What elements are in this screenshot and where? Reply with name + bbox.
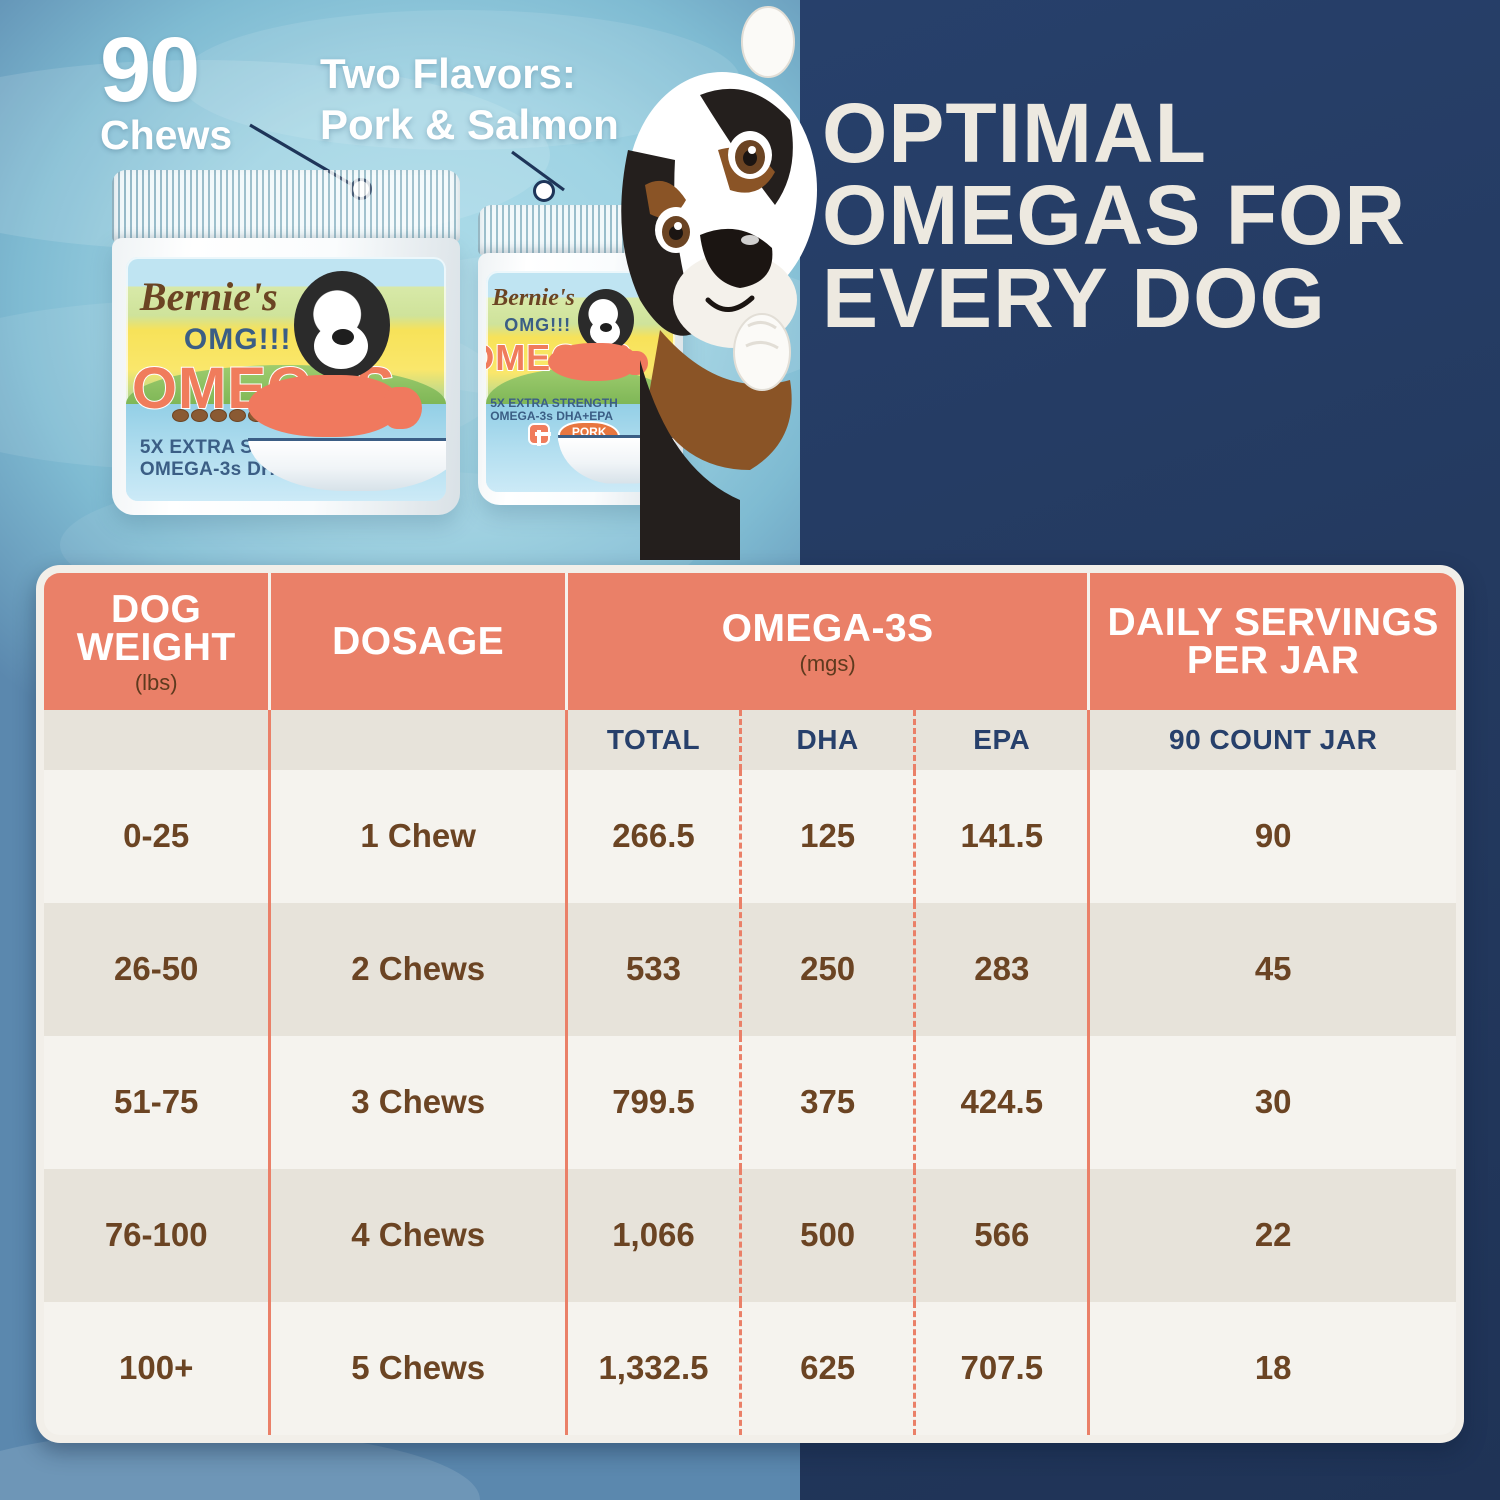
label-brand: Bernie's [140, 273, 278, 320]
chew-count-number: 90 [100, 28, 232, 113]
chew-piece [172, 409, 189, 422]
cell-weight: 51-75 [44, 1036, 270, 1169]
label-omg: OMG!!! [504, 315, 571, 336]
label-fish-illustration [248, 375, 398, 437]
cell-dha: 125 [741, 770, 915, 903]
dosage-table-body: 0-25 1 Chew 266.5 125 141.5 90 26-50 2 C… [44, 770, 1456, 1435]
header-omega3s-label: Omega-3s [722, 607, 934, 650]
table-header-row-primary: Dog Weight (lbs) Dosage Omega-3s (mgs) D… [44, 573, 1456, 710]
subheader-epa: EPA [915, 710, 1089, 770]
subheader-weight-blank [44, 710, 270, 770]
page-headline: Optimal Omegas for Every Dog [822, 92, 1482, 339]
cell-dosage: 1 Chew [270, 770, 567, 903]
cell-dosage: 4 Chews [270, 1169, 567, 1302]
cell-total: 1,066 [566, 1169, 740, 1302]
header-dosage-label: Dosage [332, 620, 504, 663]
label-omg: OMG!!! [184, 323, 292, 357]
product-jar-salmon: Bernie's OMG!!! OMEGAS 5X EXTRA STRENGTH… [112, 170, 460, 515]
chew-piece [229, 409, 246, 422]
headline-line-1: Optimal [822, 92, 1482, 174]
cell-total: 266.5 [566, 770, 740, 903]
cell-dha: 500 [741, 1169, 915, 1302]
headline-line-3: Every Dog [822, 257, 1482, 339]
jar-label: Bernie's OMG!!! OMEGAS 5X EXTRA STRENGTH… [126, 257, 446, 501]
header-dog-weight: Dog Weight (lbs) [44, 573, 270, 710]
header-dog-weight-label: Dog Weight [77, 588, 236, 669]
label-brand: Bernie's [492, 285, 575, 312]
cell-total: 799.5 [566, 1036, 740, 1169]
chew-count-label: Chews [100, 117, 232, 155]
dosage-table-head: Dog Weight (lbs) Dosage Omega-3s (mgs) D… [44, 573, 1456, 770]
table-row: 76-100 4 Chews 1,066 500 566 22 [44, 1169, 1456, 1302]
dosage-table: Dog Weight (lbs) Dosage Omega-3s (mgs) D… [44, 573, 1456, 1435]
table-row: 26-50 2 Chews 533 250 283 45 [44, 903, 1456, 1036]
cell-servings: 30 [1089, 1036, 1456, 1169]
cell-epa: 283 [915, 903, 1089, 1036]
cell-dosage: 3 Chews [270, 1036, 567, 1169]
header-omega3s-unit: (mgs) [572, 653, 1083, 675]
cell-epa: 141.5 [915, 770, 1089, 903]
label-subtext: 5X EXTRA STRENGTH OMEGA-3s DHA+EPA [490, 397, 618, 424]
cell-servings: 22 [1089, 1169, 1456, 1302]
subheader-dha: DHA [741, 710, 915, 770]
subheader-total: TOTAL [566, 710, 740, 770]
cell-dosage: 2 Chews [270, 903, 567, 1036]
chew-piece [210, 409, 227, 422]
cell-total: 1,332.5 [566, 1302, 740, 1435]
table-row: 100+ 5 Chews 1,332.5 625 707.5 18 [44, 1302, 1456, 1435]
cell-dha: 250 [741, 903, 915, 1036]
jar-body: Bernie's OMG!!! OMEGAS 5X EXTRA STRENGTH… [112, 238, 460, 515]
header-omega3s: Omega-3s (mgs) [566, 573, 1088, 710]
cell-weight: 76-100 [44, 1169, 270, 1302]
cell-servings: 18 [1089, 1302, 1456, 1435]
plus-badge-icon [528, 423, 550, 445]
chew-piece [191, 409, 208, 422]
cell-dha: 625 [741, 1302, 915, 1435]
cell-weight: 0-25 [44, 770, 270, 903]
headline-line-2: Omegas for [822, 174, 1482, 256]
leader-dot-back-jar [533, 180, 555, 202]
table-header-row-secondary: TOTAL DHA EPA 90 COUNT JAR [44, 710, 1456, 770]
cell-weight: 100+ [44, 1302, 270, 1435]
subheader-dosage-blank [270, 710, 567, 770]
cell-dosage: 5 Chews [270, 1302, 567, 1435]
header-dog-weight-unit: (lbs) [48, 672, 264, 694]
cell-servings: 45 [1089, 903, 1456, 1036]
label-fish-tail [384, 387, 422, 429]
cell-servings: 90 [1089, 770, 1456, 903]
jar-lid [112, 170, 460, 242]
peeking-dog-illustration [600, 0, 850, 560]
chew-count-callout: 90 Chews [100, 28, 232, 154]
cell-epa: 707.5 [915, 1302, 1089, 1435]
cell-weight: 26-50 [44, 903, 270, 1036]
cell-epa: 424.5 [915, 1036, 1089, 1169]
subheader-count-jar: 90 COUNT JAR [1089, 710, 1456, 770]
flavors-line-1: Two Flavors: [320, 48, 619, 99]
table-row: 0-25 1 Chew 266.5 125 141.5 90 [44, 770, 1456, 903]
cell-epa: 566 [915, 1169, 1089, 1302]
cell-total: 533 [566, 903, 740, 1036]
header-dosage: Dosage [270, 573, 567, 710]
label-subtext-line-1: 5X EXTRA STRENGTH [490, 397, 618, 410]
dosage-table-container: Dog Weight (lbs) Dosage Omega-3s (mgs) D… [36, 565, 1464, 1443]
table-row: 51-75 3 Chews 799.5 375 424.5 30 [44, 1036, 1456, 1169]
header-daily-servings: Daily Servings Per Jar [1089, 573, 1456, 710]
header-daily-servings-label: Daily Servings Per Jar [1107, 601, 1438, 682]
cell-dha: 375 [741, 1036, 915, 1169]
